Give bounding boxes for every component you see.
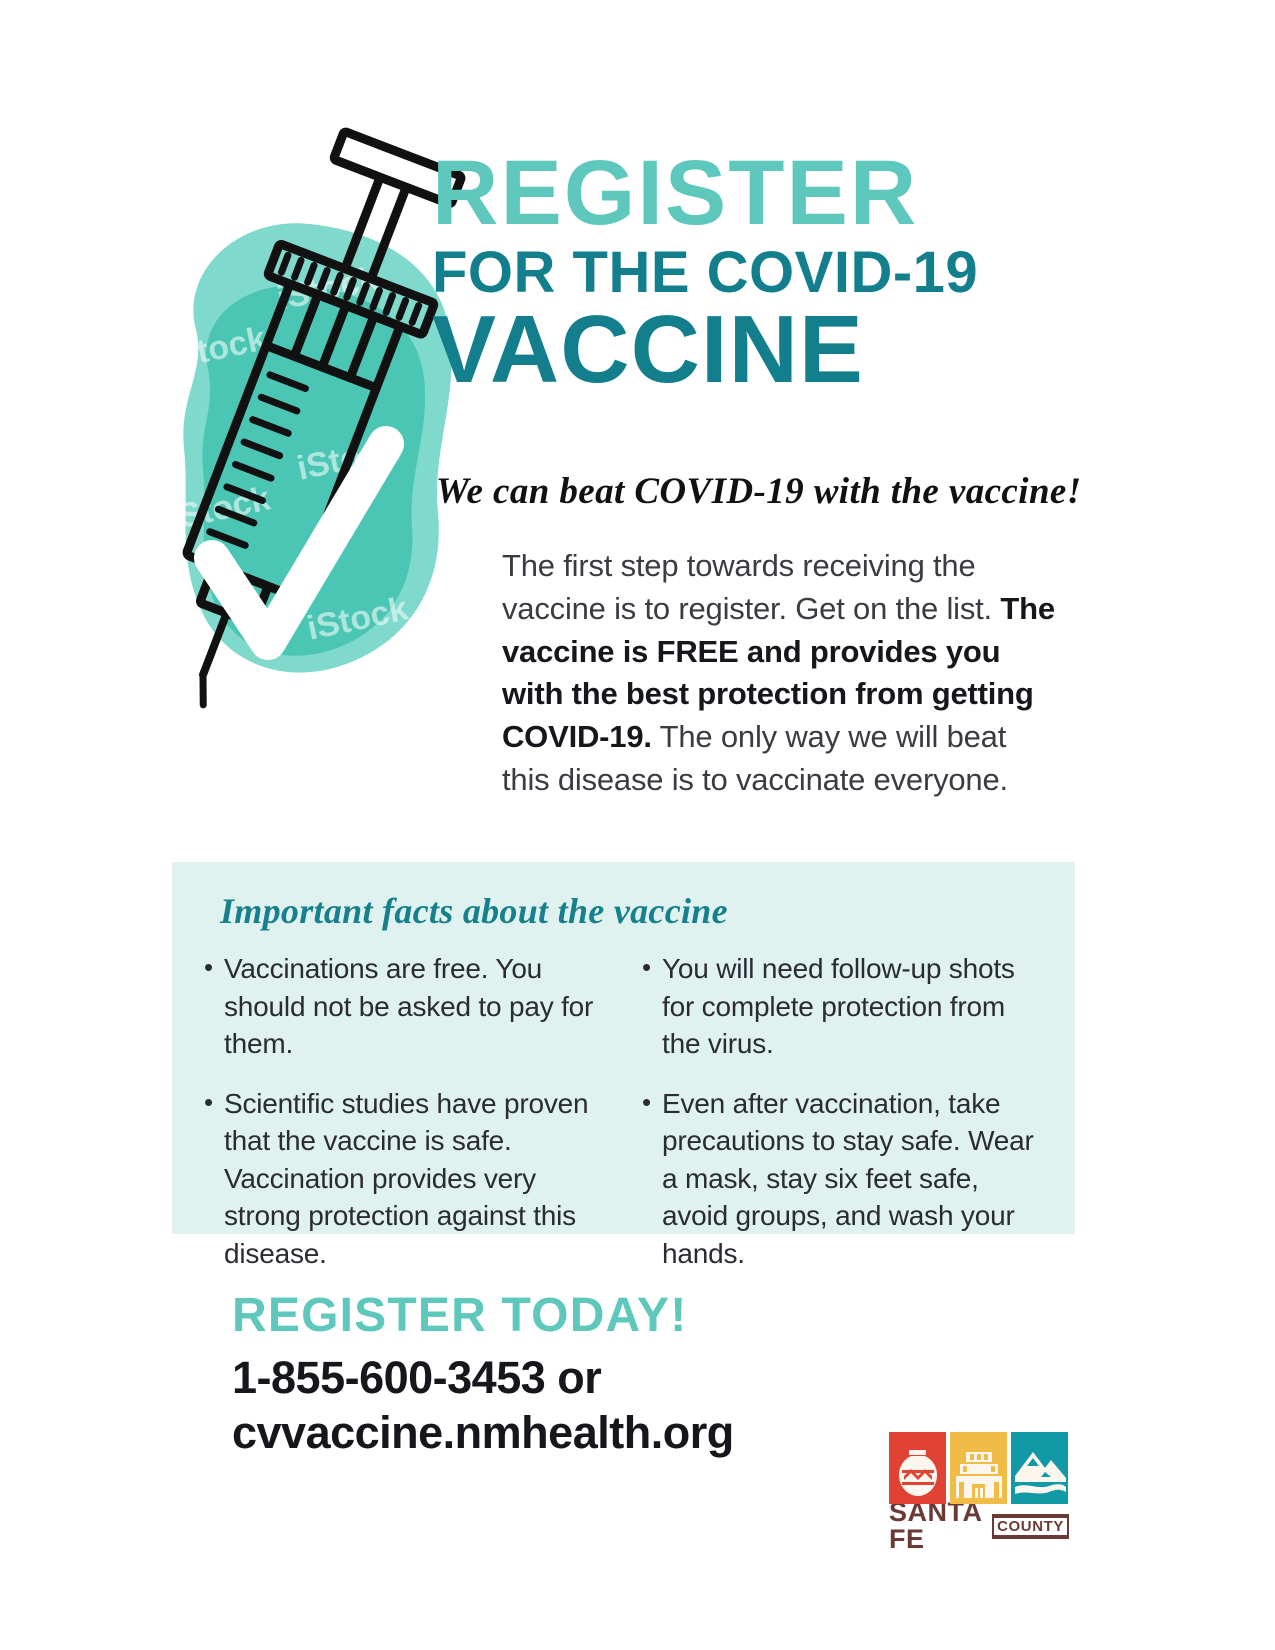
logo-tile-pottery <box>889 1432 946 1504</box>
logo-santa-fe-text: SANTA FE <box>889 1499 984 1553</box>
facts-column-left: • Vaccinations are free. You should not … <box>204 950 610 1294</box>
syringe-illustration: iStock iStock iStock iStock iStock <box>150 120 480 760</box>
facts-column-right: • You will need follow-up shots for comp… <box>642 950 1048 1294</box>
vaccine-registration-poster: iStock iStock iStock iStock iStock <box>0 0 1275 1650</box>
list-item: • Even after vaccination, take precautio… <box>642 1085 1048 1273</box>
cta-phone-number[interactable]: 1-855-600-3453 or <box>232 1351 792 1406</box>
fact-text: Scientific studies have proven that the … <box>224 1085 610 1273</box>
bullet-icon: • <box>204 1085 224 1273</box>
fact-text: Vaccinations are free. You should not be… <box>224 950 610 1063</box>
cta-website-url[interactable]: cvvaccine.nmhealth.org <box>232 1406 792 1461</box>
facts-columns: • Vaccinations are free. You should not … <box>204 950 1049 1294</box>
list-item: • Vaccinations are free. You should not … <box>204 950 610 1063</box>
tagline: We can beat COVID-19 with the vaccine! <box>436 470 1076 513</box>
important-facts-panel: Important facts about the vaccine • Vacc… <box>172 862 1075 1234</box>
headline-line-register: REGISTER <box>432 150 1052 237</box>
logo-tiles <box>889 1432 1069 1504</box>
logo-tile-pueblo <box>950 1432 1007 1504</box>
call-to-action: REGISTER TODAY! 1-855-600-3453 or cvvacc… <box>232 1290 792 1461</box>
logo-tile-mountains <box>1011 1432 1068 1504</box>
cta-title: REGISTER TODAY! <box>232 1290 792 1343</box>
headline: REGISTER FOR THE COVID-19 VACCINE <box>432 150 1052 395</box>
bullet-icon: • <box>642 1085 662 1273</box>
headline-line-for-the-covid: FOR THE COVID-19 <box>432 243 1052 304</box>
bullet-icon: • <box>204 950 224 1063</box>
bullet-icon: • <box>642 950 662 1063</box>
fact-text: Even after vaccination, take precautions… <box>662 1085 1048 1273</box>
logo-wordmark: SANTA FE COUNTY <box>889 1512 1069 1540</box>
intro-paragraph: The first step towards receiving the vac… <box>502 545 1058 802</box>
facts-heading: Important facts about the vaccine <box>220 890 728 932</box>
hero-section: iStock iStock iStock iStock iStock <box>0 0 1275 860</box>
logo-county-text: COUNTY <box>997 1519 1064 1534</box>
logo-county-box: COUNTY <box>992 1514 1069 1539</box>
fact-text: You will need follow-up shots for comple… <box>662 950 1048 1063</box>
santa-fe-county-logo: SANTA FE COUNTY <box>889 1432 1069 1544</box>
list-item: • You will need follow-up shots for comp… <box>642 950 1048 1063</box>
headline-line-vaccine: VACCINE <box>432 306 1052 394</box>
intro-paragraph-part1: The first step towards receiving the vac… <box>502 548 1000 626</box>
list-item: • Scientific studies have proven that th… <box>204 1085 610 1273</box>
